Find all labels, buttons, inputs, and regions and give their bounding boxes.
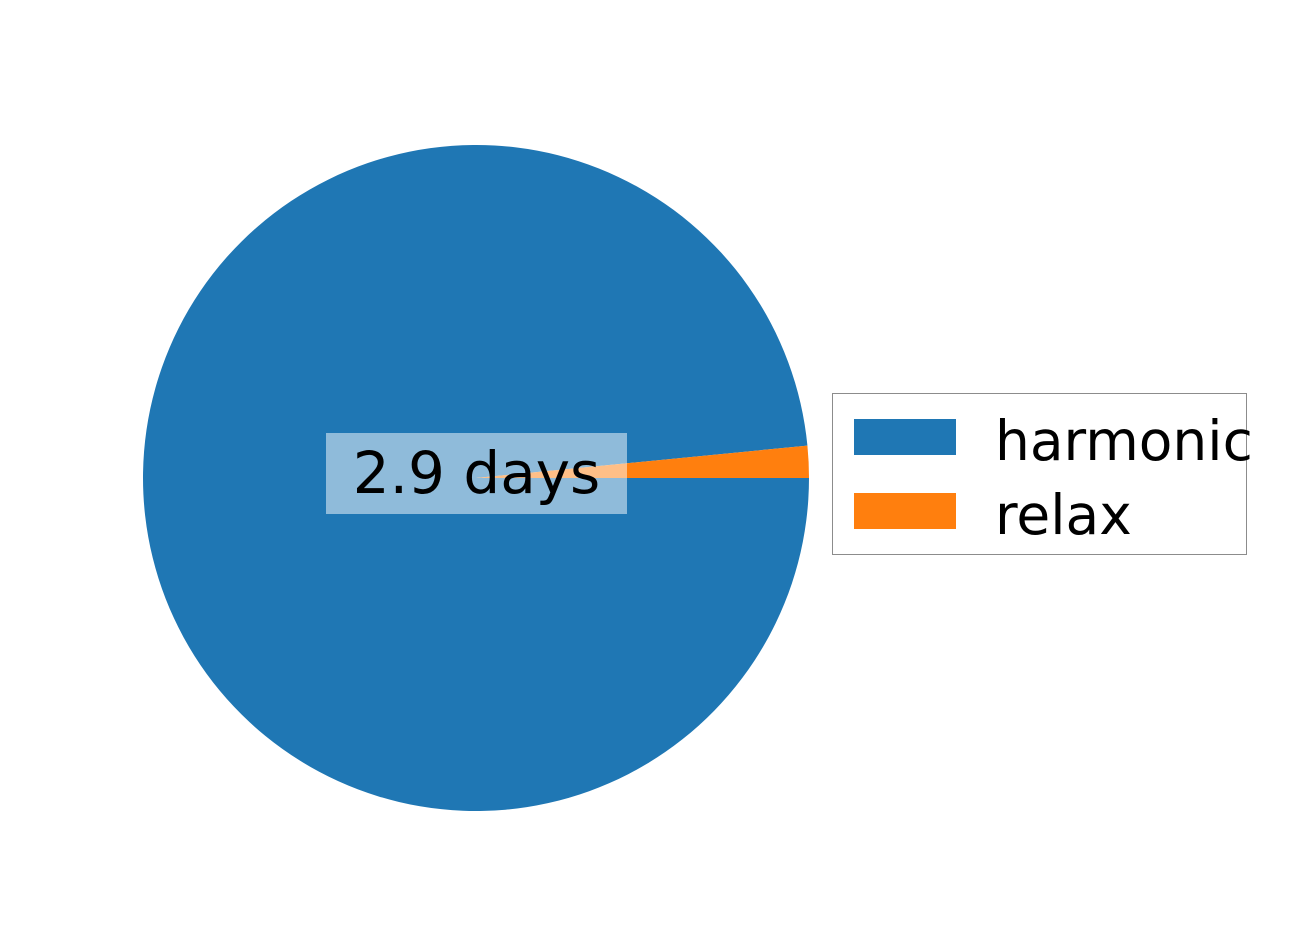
pie-chart-figure: 2.9 days harmonic relax	[0, 0, 1307, 951]
legend-swatch-relax	[854, 493, 956, 529]
legend-entry-relax[interactable]: relax	[833, 479, 1246, 553]
legend-swatch-harmonic	[854, 419, 956, 455]
pie-slice-label-harmonic: 2.9 days	[326, 433, 627, 514]
legend-label-harmonic: harmonic	[995, 405, 1253, 479]
legend-entry-harmonic[interactable]: harmonic	[833, 405, 1246, 479]
legend: harmonic relax	[832, 393, 1247, 555]
legend-label-relax: relax	[995, 479, 1132, 553]
